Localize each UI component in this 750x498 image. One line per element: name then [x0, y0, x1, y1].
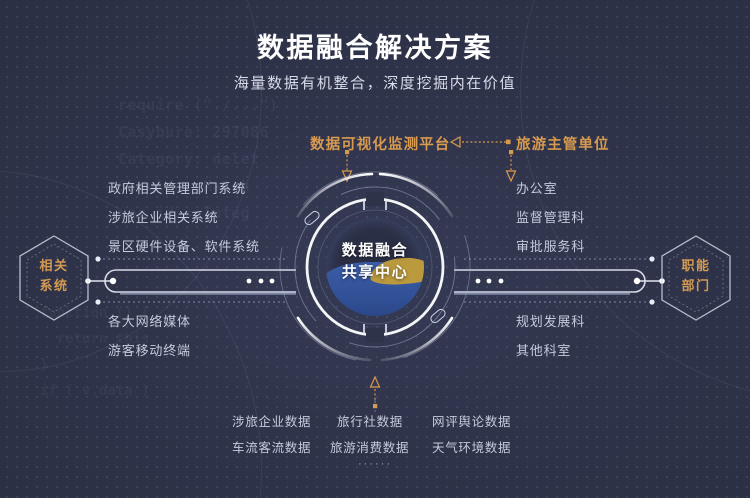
hexagon-right-label: 职能 部门: [656, 256, 736, 296]
arrow-left-icon: [449, 134, 513, 150]
right-item-4: 其他科室: [516, 340, 571, 359]
left-item-3: 各大网络媒体: [108, 311, 191, 330]
left-item-0: 政府相关管理部门系统: [108, 178, 246, 197]
label-visualization-platform: 数据可视化监测平台: [310, 133, 450, 154]
bottom-item-r0c0: 涉旅企业数据: [232, 411, 311, 430]
hexagon-left-label: 相关 系统: [14, 256, 94, 296]
page-title: 数据融合解决方案: [0, 26, 750, 65]
hexagon-functional-departments: 职能 部门: [656, 232, 736, 324]
label-tourism-authority: 旅游主管单位: [516, 133, 610, 154]
bottom-item-r1c2: 天气环境数据: [432, 437, 511, 456]
bottom-ellipsis: ······: [0, 458, 750, 470]
right-item-0: 办公室: [516, 178, 557, 197]
left-item-1: 涉旅企业相关系统: [108, 207, 218, 226]
page-subtitle: 海量数据有机整合，深度挖掘内在价值: [0, 72, 750, 93]
bottom-item-r1c0: 车流客流数据: [232, 437, 311, 456]
hexagon-related-systems: 相关 系统: [14, 232, 94, 324]
bottom-item-r0c1: 旅行社数据: [337, 411, 403, 430]
bottom-item-r0c2: 网评舆论数据: [432, 411, 511, 430]
left-item-4: 游客移动终端: [108, 340, 191, 359]
right-item-2: 审批服务科: [516, 236, 585, 255]
data-fusion-core: 数据融合 共享中心: [276, 168, 474, 366]
triangle-up-icon-data: [369, 374, 381, 410]
right-item-3: 规划发展科: [516, 311, 585, 330]
infographic-canvas: require ("./...") Casybure: 297086 Categ…: [0, 0, 750, 498]
right-item-1: 监督管理科: [516, 207, 585, 226]
core-label: 数据融合 共享中心: [326, 240, 424, 284]
left-item-2: 景区硬件设备、软件系统: [108, 236, 260, 255]
bottom-item-r1c1: 旅游消费数据: [330, 437, 409, 456]
